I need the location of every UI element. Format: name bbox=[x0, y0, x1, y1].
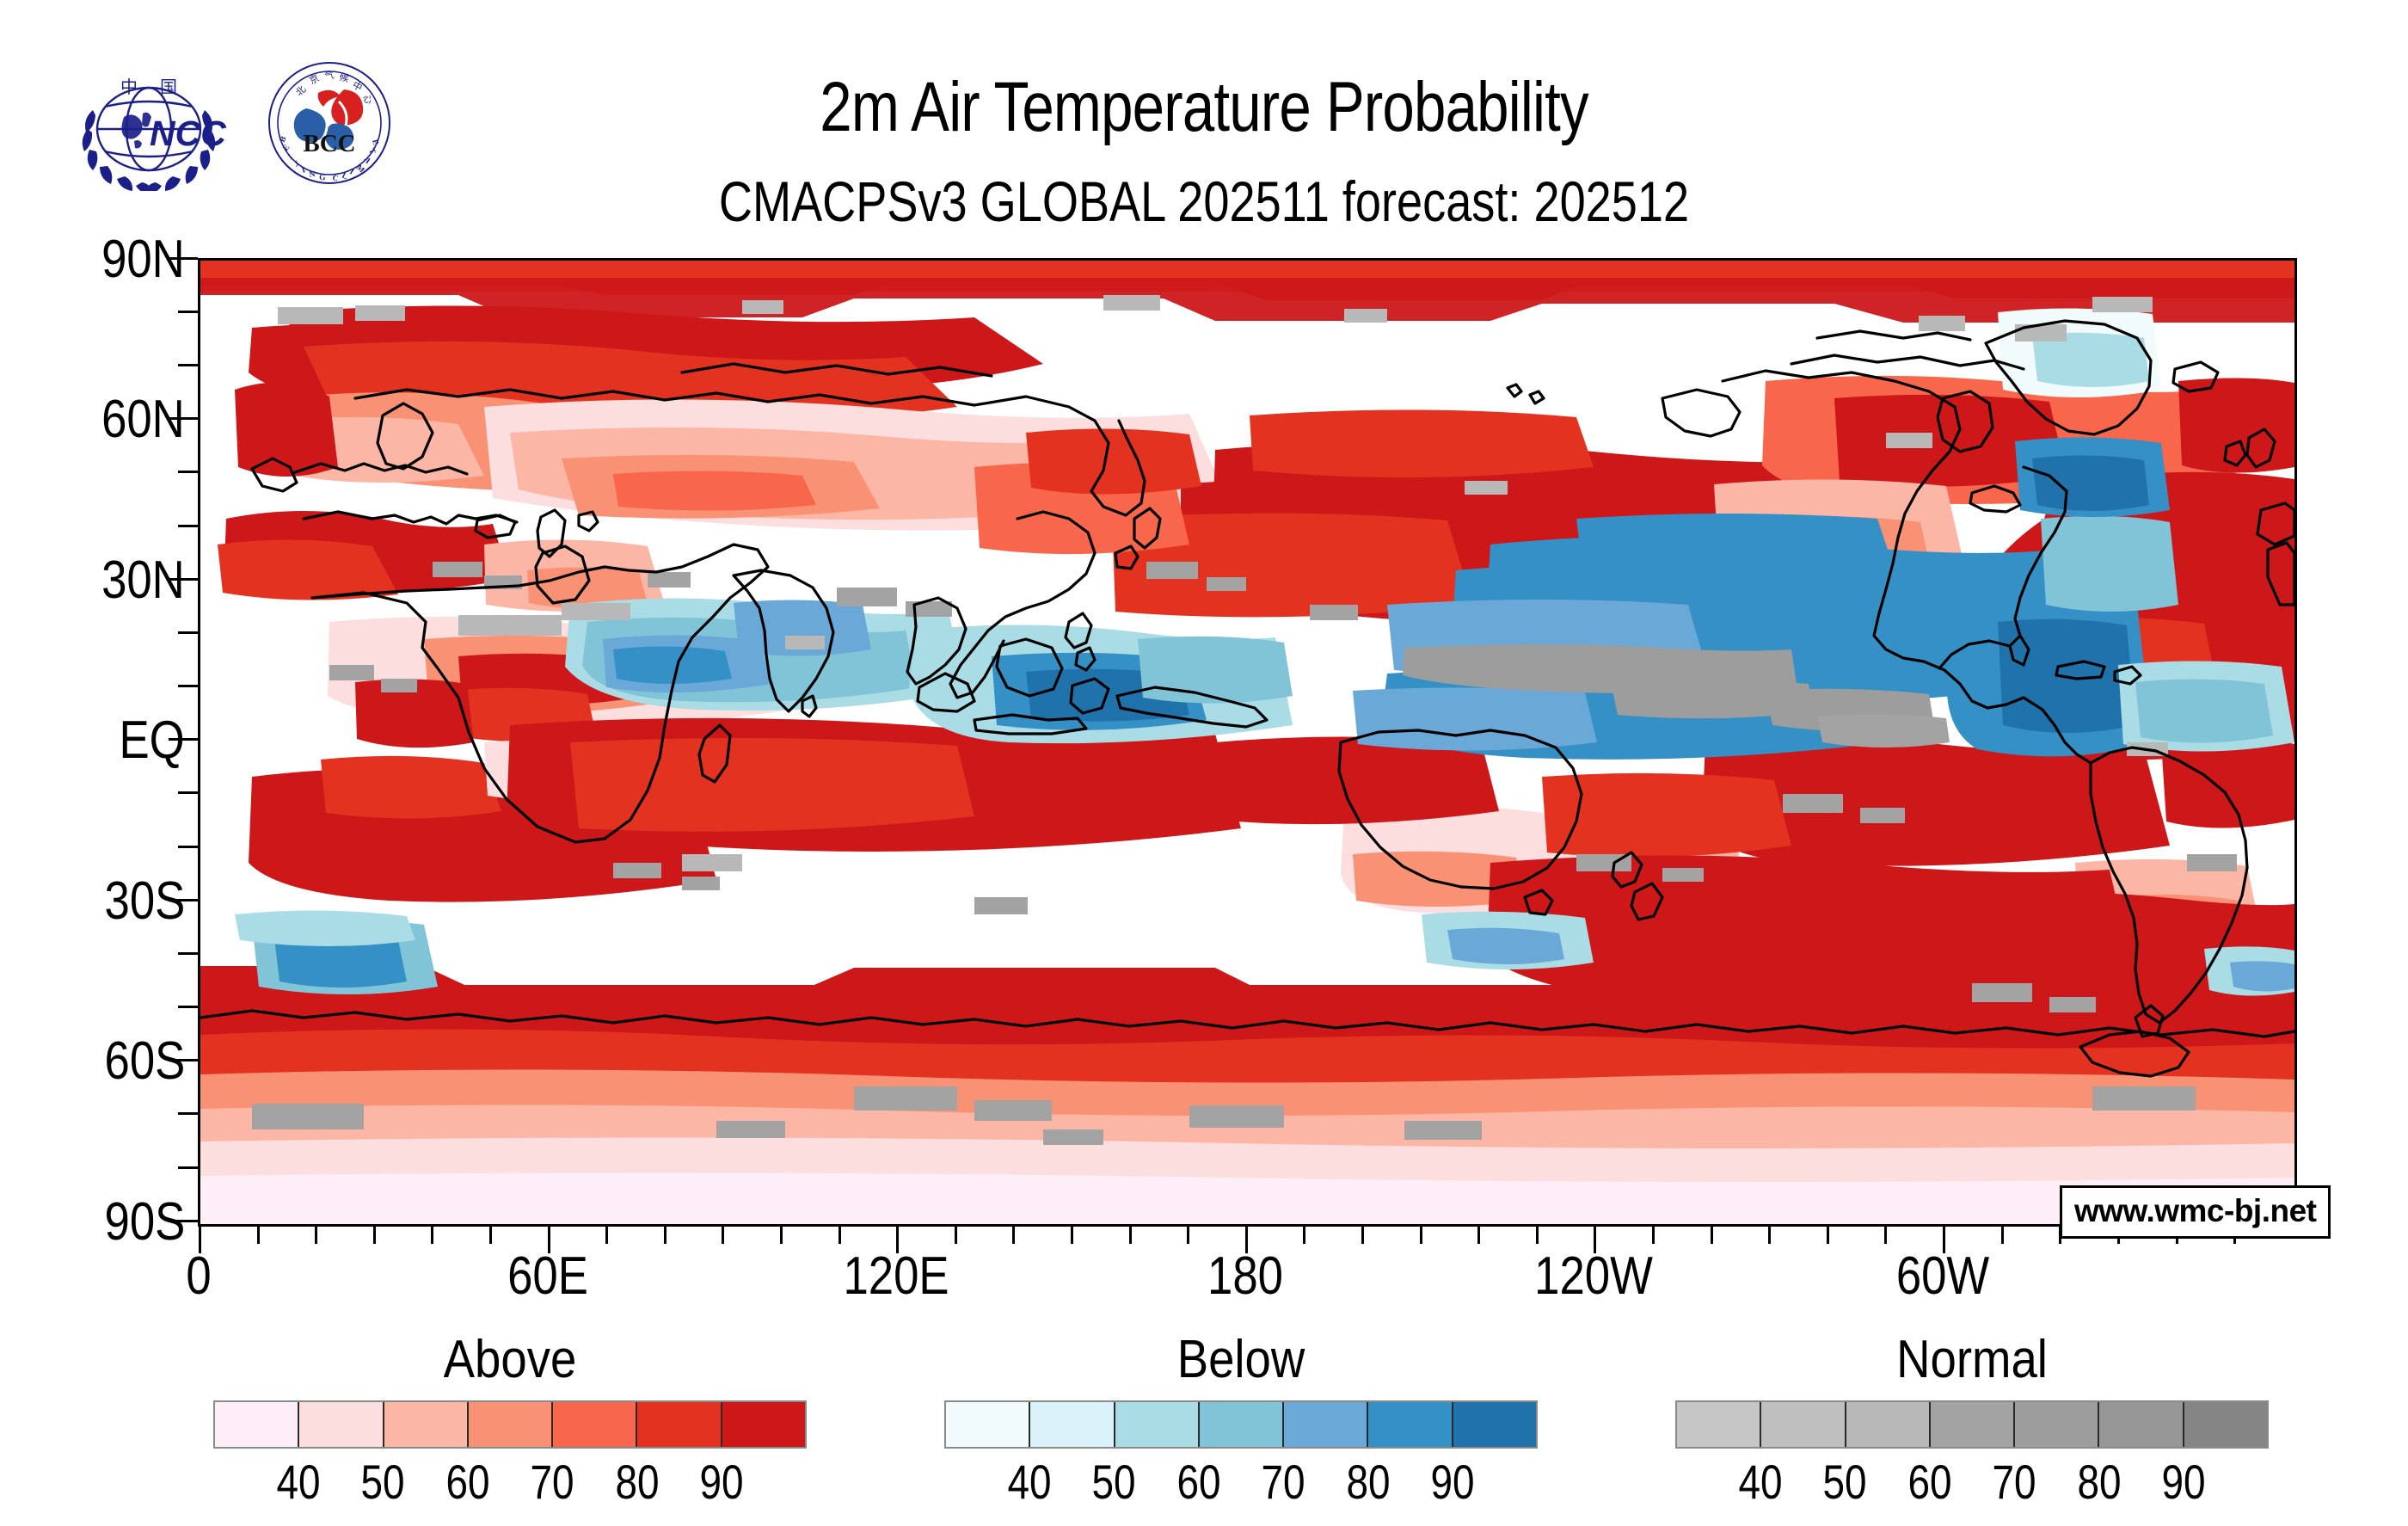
map-canvas bbox=[200, 261, 2294, 1224]
ytick-label-90n: 90N bbox=[101, 229, 185, 290]
legend-swatch bbox=[1677, 1402, 1761, 1447]
legend-swatch bbox=[1453, 1402, 1536, 1447]
svg-text:中: 中 bbox=[120, 77, 138, 97]
xtick-minor bbox=[1477, 1224, 1480, 1244]
legend-swatch bbox=[2184, 1402, 2267, 1447]
legend-swatch bbox=[2015, 1402, 2099, 1447]
ytick-minor bbox=[178, 471, 198, 473]
legend-tick: 70 bbox=[1993, 1454, 2036, 1510]
watermark-url: www.wmc-bj.net bbox=[2060, 1185, 2331, 1239]
ytick-label-60s: 60S bbox=[104, 1031, 185, 1092]
legend-tick: 70 bbox=[1262, 1454, 1305, 1510]
xtick-minor bbox=[431, 1224, 433, 1244]
legend-tick: 60 bbox=[445, 1454, 489, 1510]
legend-tick: 90 bbox=[700, 1454, 744, 1510]
xtick-minor bbox=[315, 1224, 317, 1244]
xtick-minor bbox=[1361, 1224, 1364, 1244]
legend-swatch bbox=[469, 1402, 553, 1447]
ytick-minor bbox=[178, 1006, 198, 1008]
xtick-minor bbox=[780, 1224, 783, 1244]
legend-tick: 50 bbox=[361, 1454, 405, 1510]
legend-normal-ticks: 40 50 60 70 80 90 bbox=[1675, 1449, 2269, 1509]
legend-tick: 80 bbox=[2077, 1454, 2121, 1510]
legend-normal-bar bbox=[1675, 1400, 2269, 1449]
legend-below-title: Below bbox=[980, 1329, 1502, 1390]
legend-tick: 70 bbox=[531, 1454, 574, 1510]
ytick-minor bbox=[178, 952, 198, 955]
legend-below: Below 40 50 60 70 80 90 bbox=[944, 1329, 1538, 1509]
legend-swatch bbox=[1761, 1402, 1846, 1447]
xtick-minor bbox=[1536, 1224, 1539, 1244]
legend-tick: 90 bbox=[1431, 1454, 1475, 1510]
legend-swatch bbox=[299, 1402, 384, 1447]
xtick-minor bbox=[1884, 1224, 1887, 1244]
legend-swatch bbox=[1846, 1402, 1931, 1447]
xtick-minor bbox=[489, 1224, 492, 1244]
xtick-minor bbox=[664, 1224, 666, 1244]
ytick-minor bbox=[178, 846, 198, 848]
legend-swatch bbox=[2099, 1402, 2184, 1447]
xtick-label-180: 180 bbox=[1187, 1246, 1304, 1307]
ytick-minor bbox=[178, 525, 198, 527]
xtick-minor bbox=[722, 1224, 724, 1244]
legend-tick: 50 bbox=[1092, 1454, 1136, 1510]
xtick-label-60e: 60E bbox=[489, 1246, 606, 1307]
legend-tick: 60 bbox=[1176, 1454, 1220, 1510]
legend-above-ticks: 40 50 60 70 80 90 bbox=[213, 1449, 807, 1509]
legend-above-bar bbox=[213, 1400, 807, 1449]
xtick-minor bbox=[955, 1224, 957, 1244]
xtick-minor bbox=[1711, 1224, 1713, 1244]
climate-forecast-map-page: NCC 中 国 bbox=[0, 0, 2408, 1526]
xtick-minor bbox=[1187, 1224, 1189, 1244]
legend-swatch bbox=[553, 1402, 637, 1447]
legend-normal-title: Normal bbox=[1711, 1329, 2233, 1390]
ytick-minor bbox=[178, 1112, 198, 1115]
xtick-minor bbox=[1420, 1224, 1422, 1244]
legend-above-title: Above bbox=[249, 1329, 771, 1390]
ytick-label-eq: EQ bbox=[120, 710, 185, 771]
svg-text:NCC: NCC bbox=[150, 114, 227, 153]
xtick-minor bbox=[373, 1224, 376, 1244]
legend-swatch bbox=[946, 1402, 1030, 1447]
legend-above: Above 40 50 60 70 80 90 bbox=[213, 1329, 807, 1509]
xtick-minor bbox=[1303, 1224, 1305, 1244]
ytick-minor bbox=[178, 311, 198, 313]
ytick-minor bbox=[178, 1166, 198, 1169]
legend-tick: 80 bbox=[1346, 1454, 1390, 1510]
legend-tick: 40 bbox=[1007, 1454, 1051, 1510]
legend-tick: 50 bbox=[1823, 1454, 1867, 1510]
page-subtitle: CMACPSv3 GLOBAL 202511 forecast: 202512 bbox=[217, 169, 2191, 234]
legend-below-bar bbox=[944, 1400, 1538, 1449]
legend-swatch bbox=[1030, 1402, 1115, 1447]
ncc-logo: NCC 中 国 bbox=[67, 53, 230, 191]
legend-tick: 40 bbox=[276, 1454, 320, 1510]
legend-tick: 80 bbox=[615, 1454, 659, 1510]
legend-swatch bbox=[1115, 1402, 1200, 1447]
xtick-minor bbox=[838, 1224, 841, 1244]
xtick-minor bbox=[1071, 1224, 1073, 1244]
legend-swatch bbox=[215, 1402, 299, 1447]
legend-swatch bbox=[722, 1402, 805, 1447]
ytick-label-30n: 30N bbox=[101, 550, 185, 611]
xtick-minor bbox=[1129, 1224, 1132, 1244]
ytick-minor bbox=[178, 364, 198, 366]
svg-text:国: 国 bbox=[160, 77, 177, 97]
legend-swatch bbox=[1284, 1402, 1368, 1447]
page-title: 2m Air Temperature Probability bbox=[217, 67, 2191, 148]
xtick-label-120e: 120E bbox=[823, 1246, 969, 1307]
legend-swatch bbox=[1368, 1402, 1453, 1447]
xtick-minor bbox=[2001, 1224, 2004, 1244]
xtick-minor bbox=[1827, 1224, 1829, 1244]
legend-swatch bbox=[384, 1402, 469, 1447]
xtick-minor bbox=[605, 1224, 608, 1244]
xtick-label-120w: 120W bbox=[1520, 1246, 1667, 1307]
global-probability-map bbox=[198, 258, 2297, 1227]
legend-tick: 40 bbox=[1738, 1454, 1782, 1510]
legend-below-ticks: 40 50 60 70 80 90 bbox=[944, 1449, 1538, 1509]
legend-swatch bbox=[1200, 1402, 1284, 1447]
ytick-label-30s: 30S bbox=[104, 871, 185, 932]
legend-normal: Normal 40 50 60 70 80 90 bbox=[1675, 1329, 2269, 1509]
legend-tick: 60 bbox=[1907, 1454, 1951, 1510]
xtick-minor bbox=[1012, 1224, 1015, 1244]
xtick-label-0: 0 bbox=[163, 1246, 236, 1307]
legend-tick: 90 bbox=[2162, 1454, 2206, 1510]
legend-swatch bbox=[1931, 1402, 2015, 1447]
ytick-label-90s: 90S bbox=[104, 1191, 185, 1252]
ytick-label-60n: 60N bbox=[101, 389, 185, 450]
xtick-minor bbox=[257, 1224, 260, 1244]
ytick-minor bbox=[178, 791, 198, 794]
legend-swatch bbox=[637, 1402, 722, 1447]
xtick-minor bbox=[1768, 1224, 1771, 1244]
xtick-minor bbox=[1652, 1224, 1655, 1244]
ytick-minor bbox=[178, 685, 198, 687]
xtick-label-60w: 60W bbox=[1884, 1246, 2001, 1307]
ytick-minor bbox=[178, 631, 198, 634]
